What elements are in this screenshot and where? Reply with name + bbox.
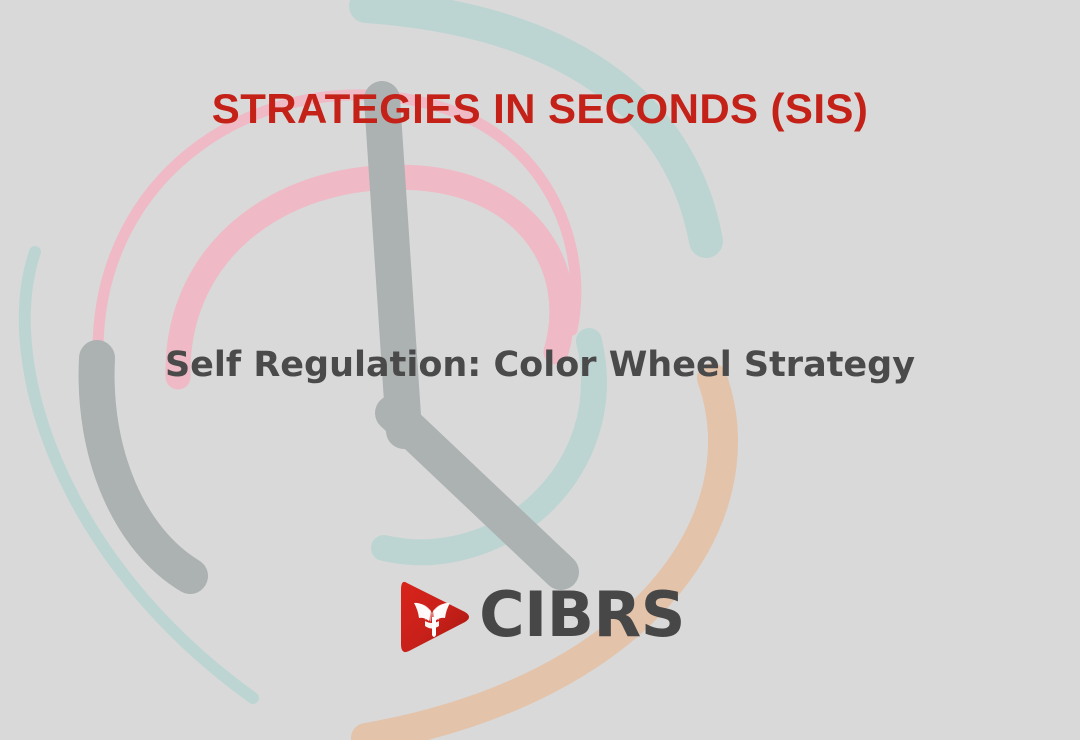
play-triangle-open-book-icon — [395, 577, 473, 657]
page-subtitle: Self Regulation: Color Wheel Strategy — [0, 345, 1080, 385]
title-block: STRATEGIES IN SECONDS (SIS) — [0, 86, 1080, 132]
logo-wordmark: CIBRS — [479, 584, 685, 650]
gray-arc-left-shape — [97, 358, 190, 576]
logo: CIBRS — [0, 577, 1080, 657]
subtitle-block: Self Regulation: Color Wheel Strategy — [0, 345, 1080, 385]
slide-canvas: STRATEGIES IN SECONDS (SIS) Self Regulat… — [0, 0, 1080, 740]
page-title: STRATEGIES IN SECONDS (SIS) — [0, 86, 1080, 132]
pink-arc-thin-outer-shape — [98, 95, 576, 356]
